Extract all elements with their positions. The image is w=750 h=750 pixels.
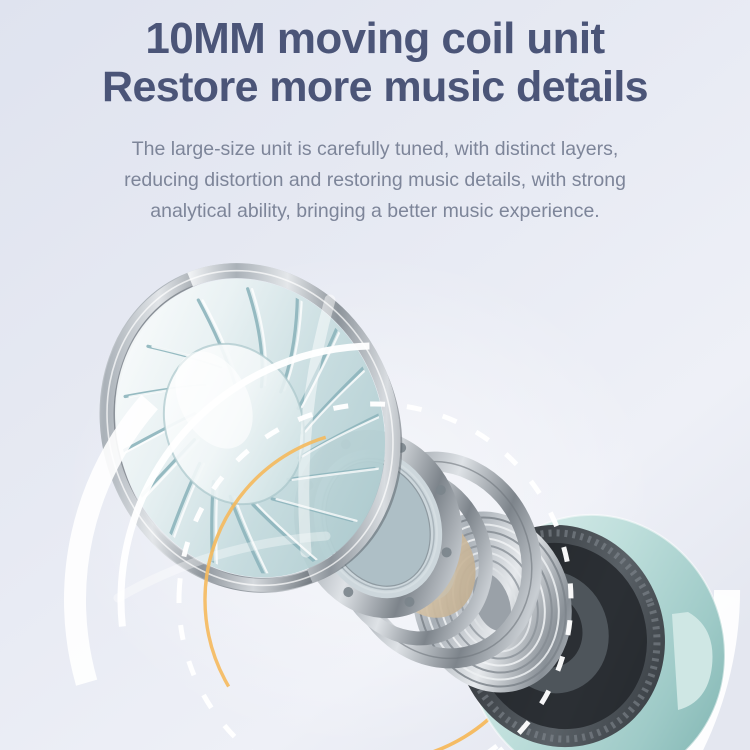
marketing-copy: 10MM moving coil unit Restore more music… (0, 0, 750, 227)
page-title: 10MM moving coil unit Restore more music… (0, 0, 750, 111)
headline-line-1: 10MM moving coil unit (145, 14, 604, 63)
headline-line-2: Restore more music details (0, 63, 750, 111)
description-paragraph: The large-size unit is carefully tuned, … (0, 111, 750, 226)
product-banner: 10MM moving coil unit Restore more music… (0, 0, 750, 750)
